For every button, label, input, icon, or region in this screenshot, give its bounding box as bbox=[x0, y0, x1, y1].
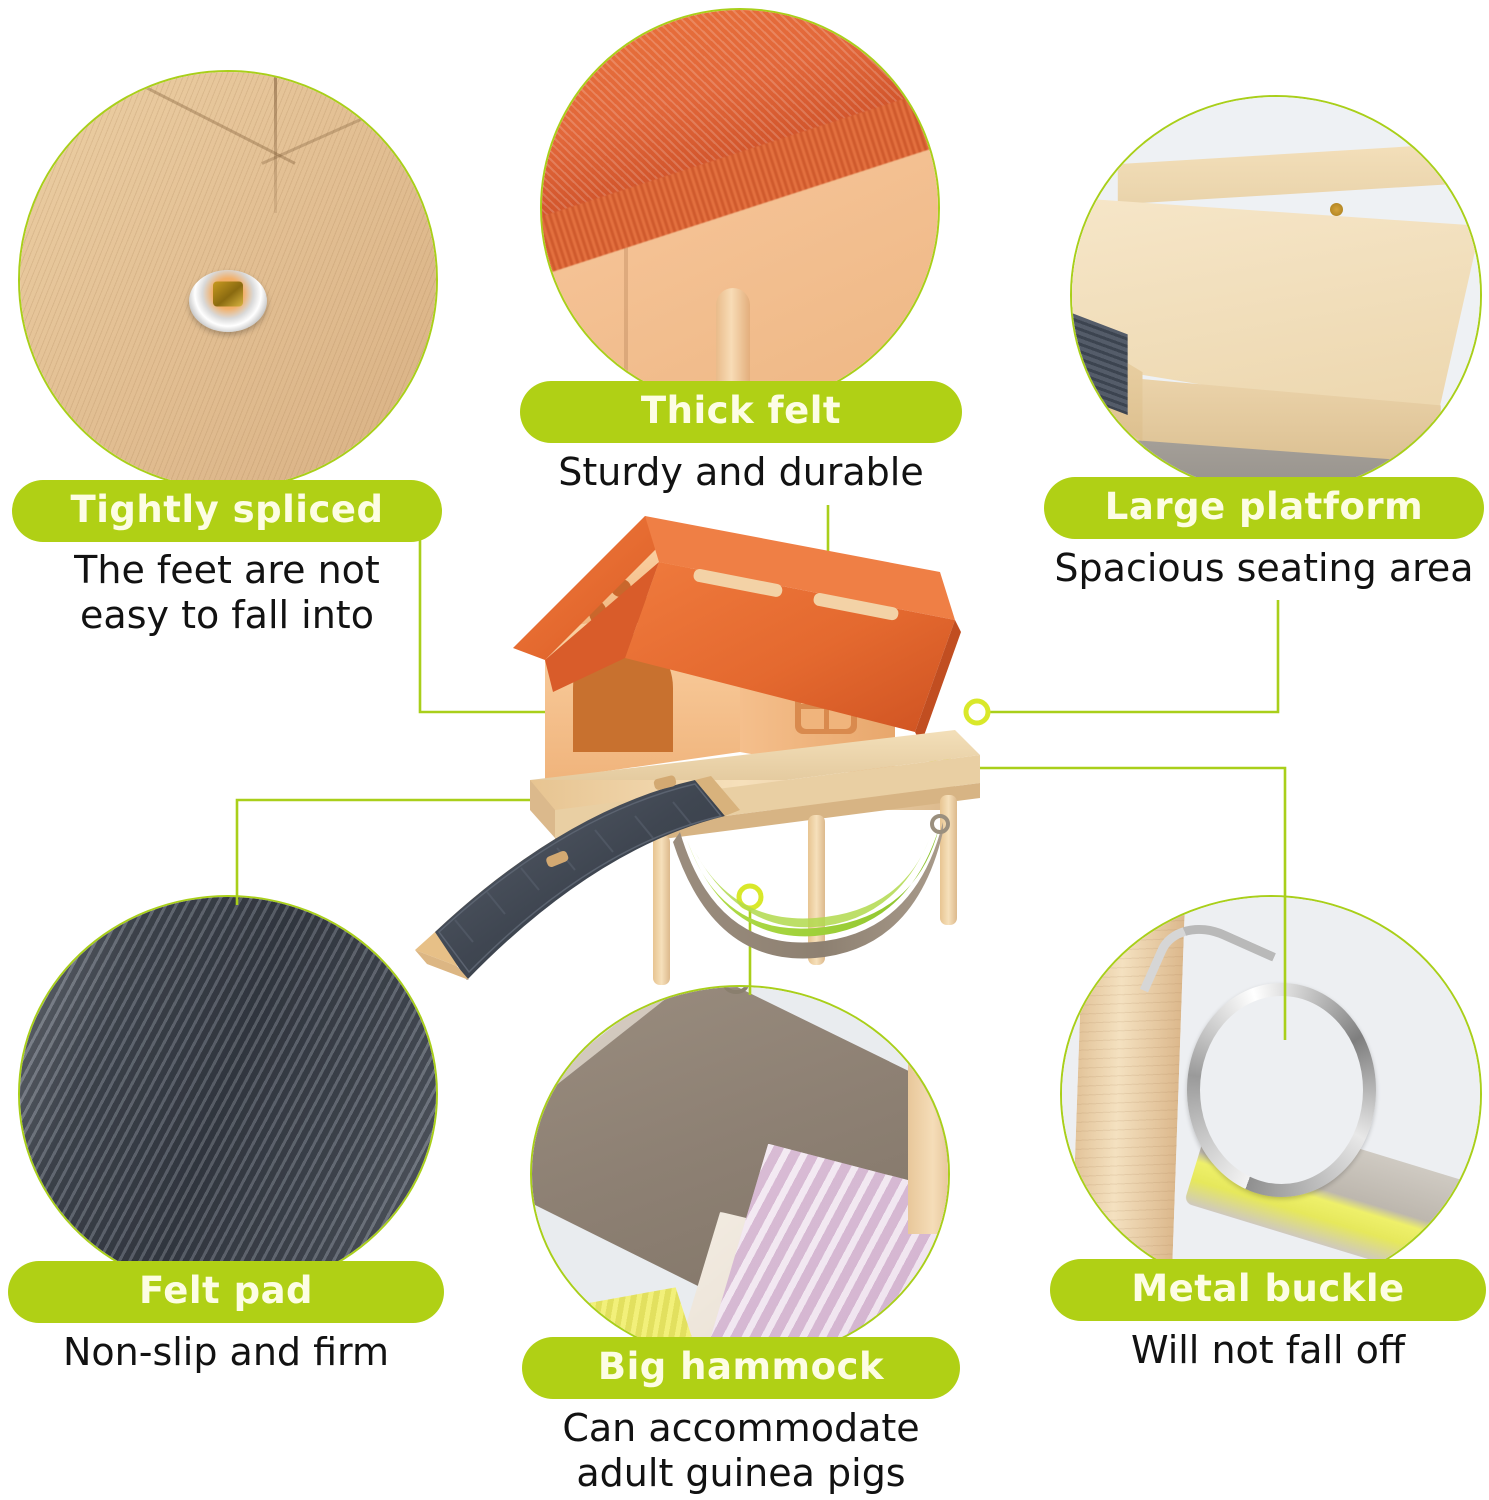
caption-thick-felt: Sturdy and durable bbox=[520, 450, 962, 495]
badge-tightly-spliced: Tightly spliced bbox=[12, 480, 442, 542]
feature-photo-big-hammock bbox=[530, 985, 950, 1363]
screw-icon bbox=[189, 270, 267, 332]
caption-metal-buckle: Will not fall off bbox=[1050, 1328, 1486, 1373]
badge-metal-buckle: Metal buckle bbox=[1050, 1259, 1486, 1321]
badge-large-platform: Large platform bbox=[1044, 477, 1484, 539]
feature-photo-large-platform bbox=[1070, 95, 1482, 495]
product-image bbox=[395, 480, 1095, 1000]
badge-felt-pad: Felt pad bbox=[8, 1261, 444, 1323]
feature-photo-tightly-spliced bbox=[18, 70, 438, 490]
caption-large-platform: Spacious seating area bbox=[1040, 546, 1488, 591]
feature-photo-metal-buckle bbox=[1060, 895, 1482, 1293]
infographic-canvas: Tightly spliced The feet are not easy to… bbox=[0, 0, 1489, 1500]
badge-thick-felt: Thick felt bbox=[520, 381, 962, 443]
feature-photo-felt-pad bbox=[18, 895, 438, 1293]
feature-photo-thick-felt bbox=[540, 8, 940, 408]
caption-tightly-spliced: The feet are not easy to fall into bbox=[12, 548, 442, 638]
badge-big-hammock: Big hammock bbox=[522, 1337, 960, 1399]
caption-big-hammock: Can accommodate adult guinea pigs bbox=[512, 1406, 970, 1496]
caption-felt-pad: Non-slip and firm bbox=[8, 1330, 444, 1375]
leg-front-left bbox=[653, 835, 670, 985]
